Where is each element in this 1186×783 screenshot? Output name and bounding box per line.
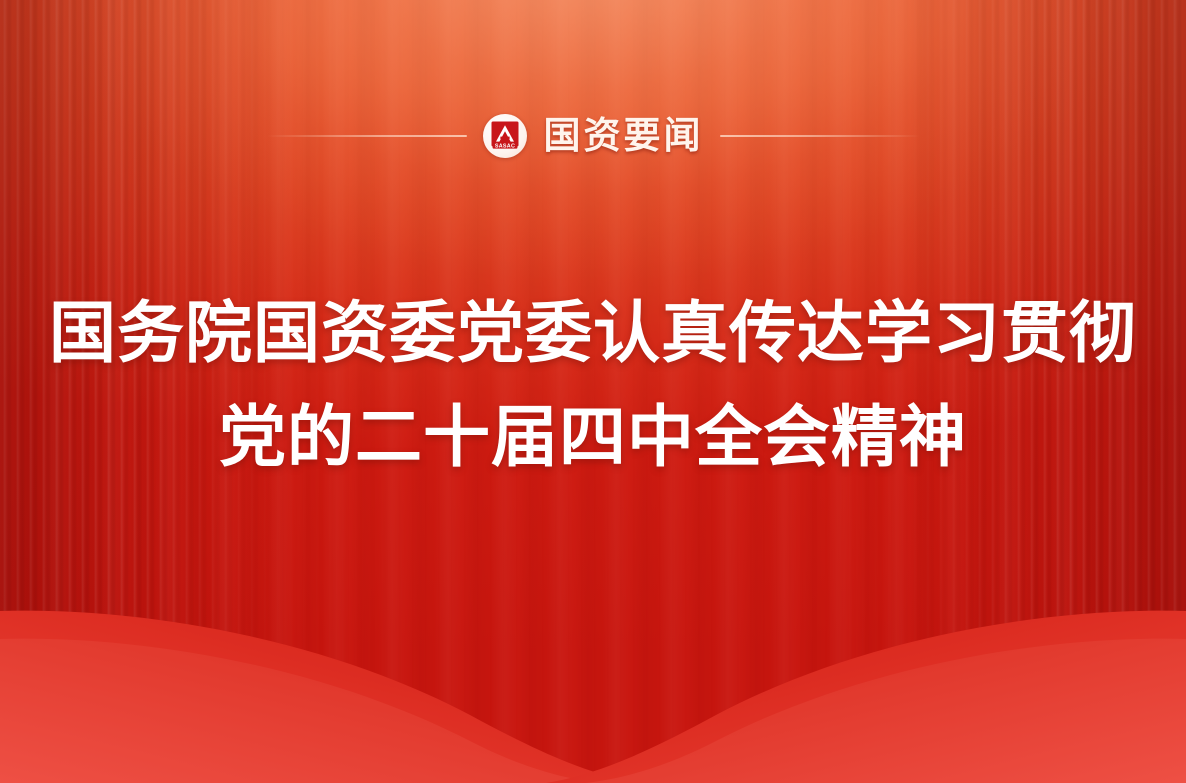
kicker-core: SASAC 国资要闻 [467,114,720,158]
divider-line-right-icon [720,135,920,137]
sasac-emblem-icon: SASAC [483,114,527,158]
divider-line-left-icon [267,135,467,137]
news-banner: SASAC 国资要闻 国务院国资委党委认真传达学习贯彻 党的二十届四中全会精神 [0,0,1186,783]
headline: 国务院国资委党委认真传达学习贯彻 党的二十届四中全会精神 [0,282,1186,490]
svg-text:SASAC: SASAC [494,144,514,150]
headline-line-1: 国务院国资委党委认真传达学习贯彻 [49,296,1137,371]
kicker-label: 国资要闻 [544,118,704,155]
kicker-row: SASAC 国资要闻 [0,105,1186,167]
headline-line-2: 党的二十届四中全会精神 [0,386,1186,490]
bottom-wave-decoration [0,583,1186,783]
